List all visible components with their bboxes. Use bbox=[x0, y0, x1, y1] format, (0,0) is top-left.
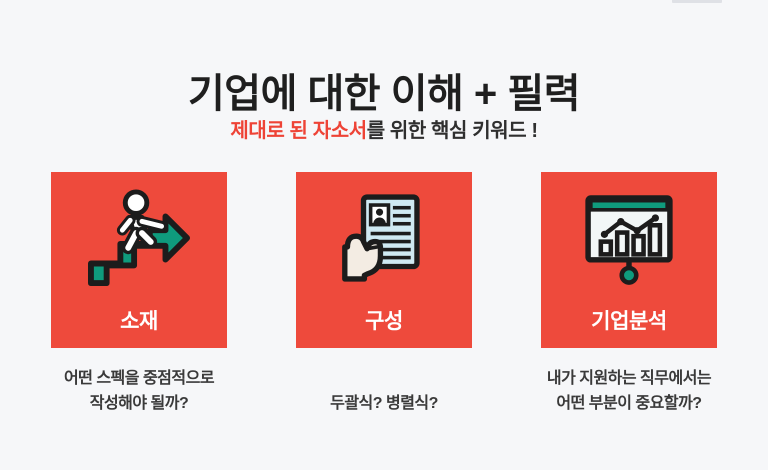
keyword-card-label: 기업분석 bbox=[541, 309, 717, 334]
keyword-card-label: 구성 bbox=[296, 309, 472, 334]
presentation-chart-icon bbox=[574, 186, 684, 290]
subtitle-accent-text: 제대로 된 자소서 bbox=[230, 120, 366, 142]
subtitle-plain-text: 를 위한 핵심 키워드 ! bbox=[367, 120, 538, 142]
keyword-card-company-analysis[interactable]: 기업분석 bbox=[541, 172, 717, 348]
page-title: 기업에 대한 이해 + 필력 bbox=[0, 71, 768, 117]
caption-structure: 두괄식? 병렬식? bbox=[265, 366, 503, 436]
caption-row: 어떤 스펙을 중점적으로 작성해야 될까? 두괄식? 병렬식? 내가 지원하는 … bbox=[20, 366, 748, 436]
keyword-card-row: 소재 bbox=[51, 172, 717, 348]
keyword-card-label: 소재 bbox=[51, 309, 227, 334]
hand-holding-resume-icon bbox=[329, 186, 439, 290]
caption-line: 어떤 스펙을 중점적으로 bbox=[20, 366, 258, 391]
page-subtitle: 제대로 된 자소서를 위한 핵심 키워드 ! bbox=[0, 118, 768, 144]
caption-material: 어떤 스펙을 중점적으로 작성해야 될까? bbox=[20, 366, 258, 436]
keyword-card-material[interactable]: 소재 bbox=[51, 172, 227, 348]
top-edge-artifact bbox=[672, 0, 722, 3]
caption-line: 작성해야 될까? bbox=[20, 391, 258, 416]
caption-company-analysis: 내가 지원하는 직무에서는 어떤 부분이 중요할까? bbox=[510, 366, 748, 436]
slide-canvas: 기업에 대한 이해 + 필력 제대로 된 자소서를 위한 핵심 키워드 ! bbox=[0, 0, 768, 470]
stairs-person-arrow-icon bbox=[84, 186, 194, 290]
keyword-card-structure[interactable]: 구성 bbox=[296, 172, 472, 348]
caption-line: 어떤 부분이 중요할까? bbox=[510, 391, 748, 416]
caption-line: 내가 지원하는 직무에서는 bbox=[510, 366, 748, 391]
caption-line: 두괄식? 병렬식? bbox=[265, 391, 503, 416]
